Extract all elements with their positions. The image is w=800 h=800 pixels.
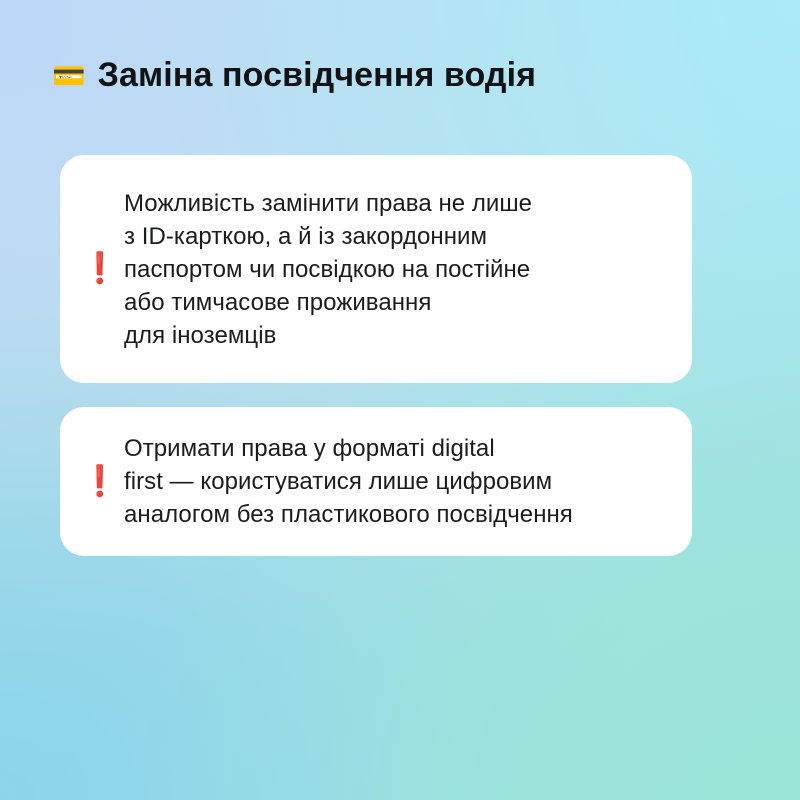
red-exclamation-icon: ❗ [78, 254, 122, 284]
info-card-1: ❗ Можливість замінити права не лише з ID… [60, 155, 692, 383]
page-header: 💳 Заміна посвідчення водія [52, 52, 536, 98]
info-card-2: ❗ Отримати права у форматі digital first… [60, 407, 692, 556]
red-exclamation-icon: ❗ [78, 467, 122, 497]
info-card-2-text: Отримати права у форматі digital first —… [122, 432, 670, 531]
page-title: Заміна посвідчення водія [98, 57, 536, 94]
credit-card-icon: 💳 [52, 63, 86, 90]
slide-canvas: 💳 Заміна посвідчення водія ❗ Можливість … [0, 0, 800, 800]
info-card-1-text: Можливість замінити права не лише з ID-к… [122, 187, 670, 352]
